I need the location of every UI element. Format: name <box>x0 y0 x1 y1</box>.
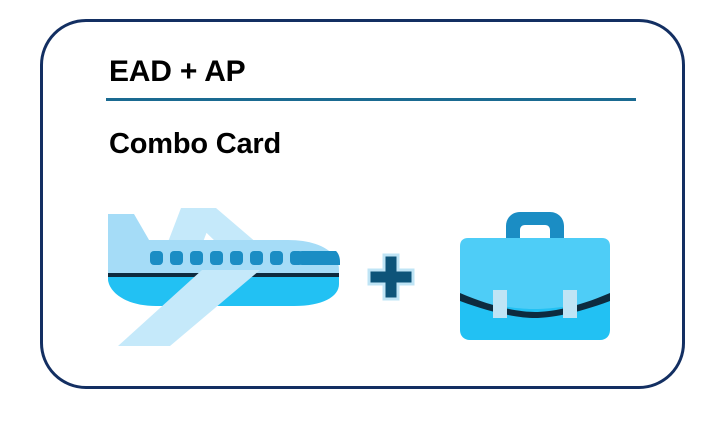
title-divider <box>106 98 636 101</box>
card-title: EAD + AP <box>109 55 636 89</box>
briefcase-icon-graphic <box>450 200 620 355</box>
briefcase-icon <box>450 200 620 355</box>
briefcase-front-flap <box>460 238 610 309</box>
screenshot-canvas: EAD + AP Combo Card <box>0 0 726 422</box>
briefcase-clasp-left <box>493 290 507 318</box>
plus-icon-graphic <box>361 247 421 307</box>
airplane-icon-graphic <box>98 202 348 352</box>
airplane-cockpit-window <box>303 251 340 265</box>
plus-icon <box>356 242 426 312</box>
card-header: EAD + AP Combo Card <box>106 55 636 161</box>
icon-row <box>98 192 638 362</box>
briefcase-handle <box>506 212 564 242</box>
airplane-icon <box>98 202 348 352</box>
plus-icon-shape <box>369 255 413 299</box>
combo-card-panel: EAD + AP Combo Card <box>40 19 685 389</box>
briefcase-clasp-right <box>563 290 577 318</box>
card-subtitle: Combo Card <box>109 128 636 161</box>
